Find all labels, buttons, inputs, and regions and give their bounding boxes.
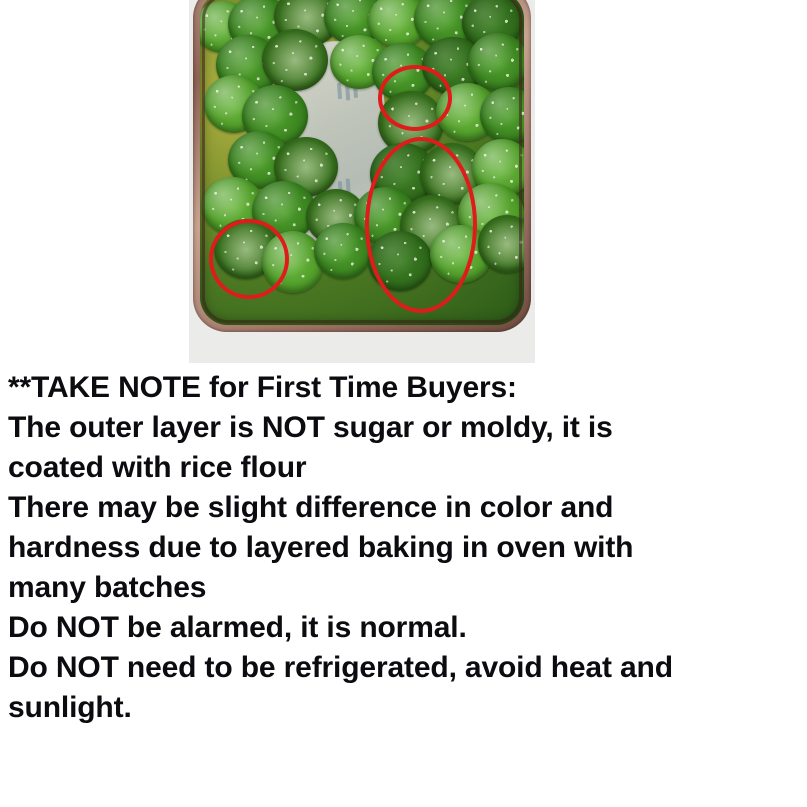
- annotation-circle-bottom-left: [209, 219, 289, 299]
- candy-piece: [468, 33, 524, 91]
- annotation-circle-top-right: [378, 65, 452, 131]
- candy-piece: [480, 87, 524, 143]
- candy-piece: [314, 223, 372, 279]
- notice-line-difference: There may be slight difference in color …: [0, 488, 807, 528]
- wrapper-print-mark: [337, 83, 342, 99]
- notice-line-heading: **TAKE NOTE for First Time Buyers:: [0, 368, 807, 408]
- candy-tin: [193, 0, 531, 332]
- notice-line-outer-layer: The outer layer is NOT sugar or moldy, i…: [0, 408, 807, 448]
- notice-line-hardness: hardness due to layered baking in oven w…: [0, 528, 807, 568]
- notice-line-not-alarmed: Do NOT be alarmed, it is normal.: [0, 608, 807, 648]
- annotation-ellipse-center-right: [365, 137, 477, 313]
- notice-line-refrigerated: Do NOT need to be refrigerated, avoid he…: [0, 648, 807, 688]
- candy-piece: [262, 29, 328, 91]
- tin-interior: [200, 0, 524, 325]
- notice-line-batches: many batches: [0, 568, 807, 608]
- product-photo: [189, 0, 535, 363]
- notice-line-rice-flour: coated with rice flour: [0, 448, 807, 488]
- notice-text-block: **TAKE NOTE for First Time Buyers: The o…: [0, 368, 807, 728]
- notice-line-sunlight: sunlight.: [0, 688, 807, 728]
